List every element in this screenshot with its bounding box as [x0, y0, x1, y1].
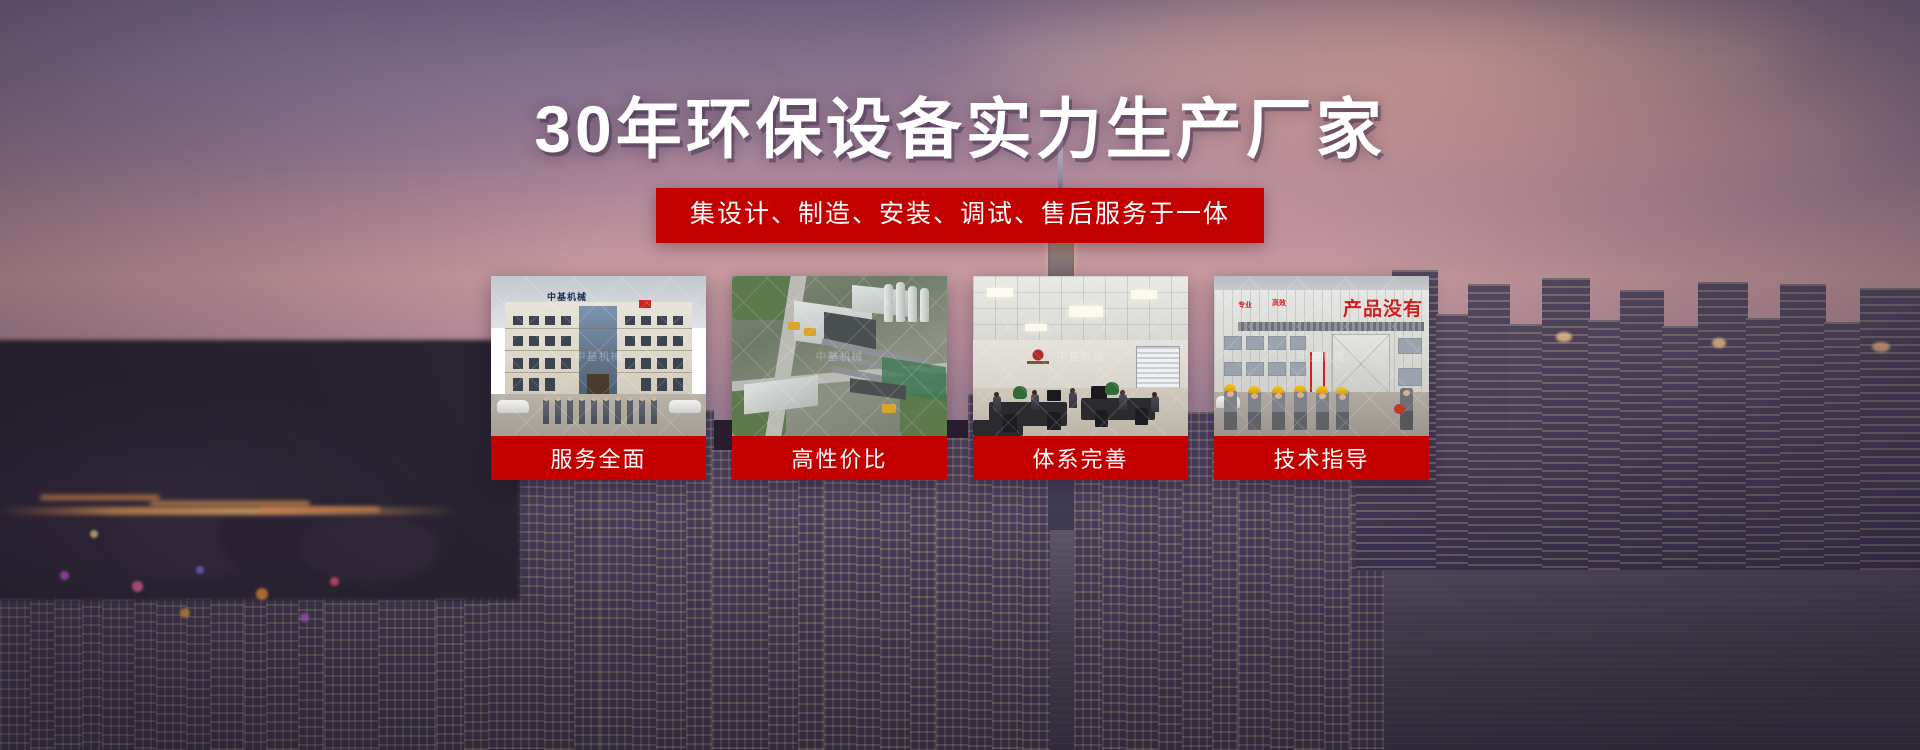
feature-card[interactable]: 中基机械 中基机械: [491, 276, 706, 480]
factory-slogan-label: 产品没有: [1343, 294, 1423, 321]
workshop-workers-photo: 产品没有 专业 高效: [1214, 276, 1429, 436]
feature-card[interactable]: 中基机械 体系完善: [973, 276, 1188, 480]
building-sign-label: 中基机械: [547, 290, 587, 303]
window-blinds: [1136, 346, 1180, 390]
aerial-factory-plant-photo: 中基机械: [732, 276, 947, 436]
feature-card-caption: 体系完善: [973, 436, 1188, 480]
office-interior-photo: 中基机械: [973, 276, 1188, 436]
page-title: 30年环保设备实力生产厂家: [534, 96, 1385, 162]
feature-card[interactable]: 中基机械 高性价比: [732, 276, 947, 480]
feature-card-caption: 高性价比: [732, 436, 947, 480]
factory-slogan-small-label: 高效: [1272, 300, 1286, 309]
feature-card[interactable]: 产品没有 专业 高效: [1214, 276, 1429, 480]
subtitle-badge: 集设计、制造、安装、调试、售后服务于一体: [656, 188, 1264, 243]
company-headquarters-photo: 中基机械 中基机械: [491, 276, 706, 436]
hero-banner: 30年环保设备实力生产厂家 集设计、制造、安装、调试、售后服务于一体: [0, 0, 1920, 750]
feature-card-list: 中基机械 中基机械: [491, 276, 1429, 480]
banner-content: 30年环保设备实力生产厂家 集设计、制造、安装、调试、售后服务于一体: [0, 0, 1920, 750]
feature-card-caption: 服务全面: [491, 436, 706, 480]
feature-card-caption: 技术指导: [1214, 436, 1429, 480]
factory-slogan-small-label: 专业: [1238, 302, 1252, 311]
safety-helmet-icon: [1394, 404, 1405, 414]
wall-logo-icon: [1025, 348, 1051, 368]
